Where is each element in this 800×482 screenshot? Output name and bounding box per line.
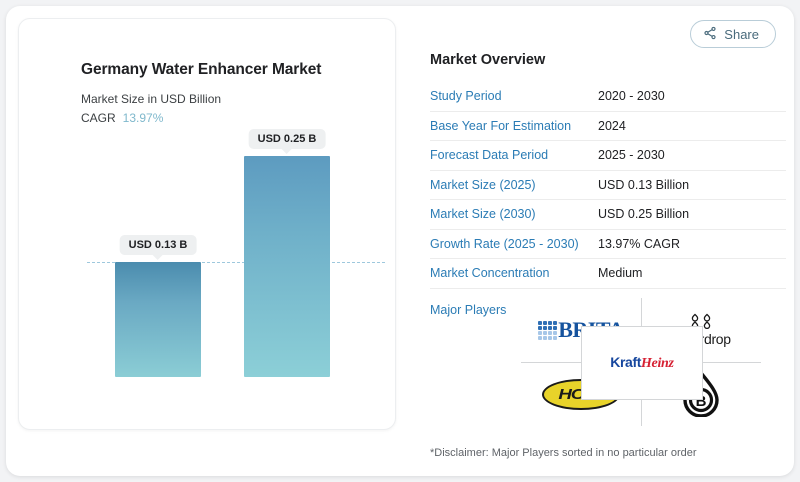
market-overview-panel: Market Overview Study Period 2020 - 2030… <box>430 52 786 317</box>
row-value: 2025 - 2030 <box>598 148 665 162</box>
share-button-label: Share <box>724 27 759 42</box>
chart-subtitle: Market Size in USD Billion <box>81 92 221 106</box>
row-key: Growth Rate (2025 - 2030) <box>430 237 598 251</box>
kraft-wordmark: Kraft <box>610 354 641 370</box>
share-icon <box>703 26 717 43</box>
share-button[interactable]: Share <box>690 20 776 48</box>
table-row: Market Size (2025) USD 0.13 Billion <box>430 171 786 201</box>
row-key: Forecast Data Period <box>430 148 598 162</box>
row-value: 13.97% CAGR <box>598 237 680 251</box>
cagr-row: CAGR 13.97% <box>81 111 163 125</box>
bar-value-label-2025: USD 0.13 B <box>120 235 197 255</box>
chart-card: Germany Water Enhancer Market Market Siz… <box>18 18 396 430</box>
player-cell-kraft-heinz[interactable]: KraftHeinz <box>581 326 703 400</box>
row-value: USD 0.13 Billion <box>598 178 689 192</box>
chart-title: Germany Water Enhancer Market <box>81 61 321 79</box>
row-value: USD 0.25 Billion <box>598 207 689 221</box>
row-value: Medium <box>598 266 642 280</box>
bar-2025[interactable] <box>115 262 201 377</box>
bar-2030[interactable] <box>244 156 330 377</box>
kraft-heinz-logo: KraftHeinz <box>610 355 673 371</box>
bar-value-label-2030: USD 0.25 B <box>249 129 326 149</box>
table-row: Study Period 2020 - 2030 <box>430 82 786 112</box>
row-key: Market Size (2030) <box>430 207 598 221</box>
brita-droplet-grid-icon <box>538 321 557 340</box>
heinz-wordmark: Heinz <box>641 356 674 371</box>
row-key: Base Year For Estimation <box>430 119 598 133</box>
disclaimer-text: *Disclaimer: Major Players sorted in no … <box>430 447 697 459</box>
bar-chart-plot: USD 0.13 B USD 0.25 B 2025 2030 Source :… <box>31 129 397 377</box>
row-key: Study Period <box>430 89 598 103</box>
row-key: Market Size (2025) <box>430 178 598 192</box>
major-players-grid: BRITA waterdrop HOLY <box>521 298 761 426</box>
row-value: 2024 <box>598 119 626 133</box>
table-row: Growth Rate (2025 - 2030) 13.97% CAGR <box>430 230 786 260</box>
cagr-label: CAGR <box>81 111 116 125</box>
overview-title: Market Overview <box>430 52 786 68</box>
table-row: Base Year For Estimation 2024 <box>430 112 786 142</box>
report-card: Share Germany Water Enhancer Market Mark… <box>6 6 794 476</box>
cagr-value: 13.97% <box>123 111 164 125</box>
table-row: Market Size (2030) USD 0.25 Billion <box>430 200 786 230</box>
table-row: Forecast Data Period 2025 - 2030 <box>430 141 786 171</box>
table-row: Market Concentration Medium <box>430 259 786 289</box>
row-key: Market Concentration <box>430 266 598 280</box>
row-value: 2020 - 2030 <box>598 89 665 103</box>
